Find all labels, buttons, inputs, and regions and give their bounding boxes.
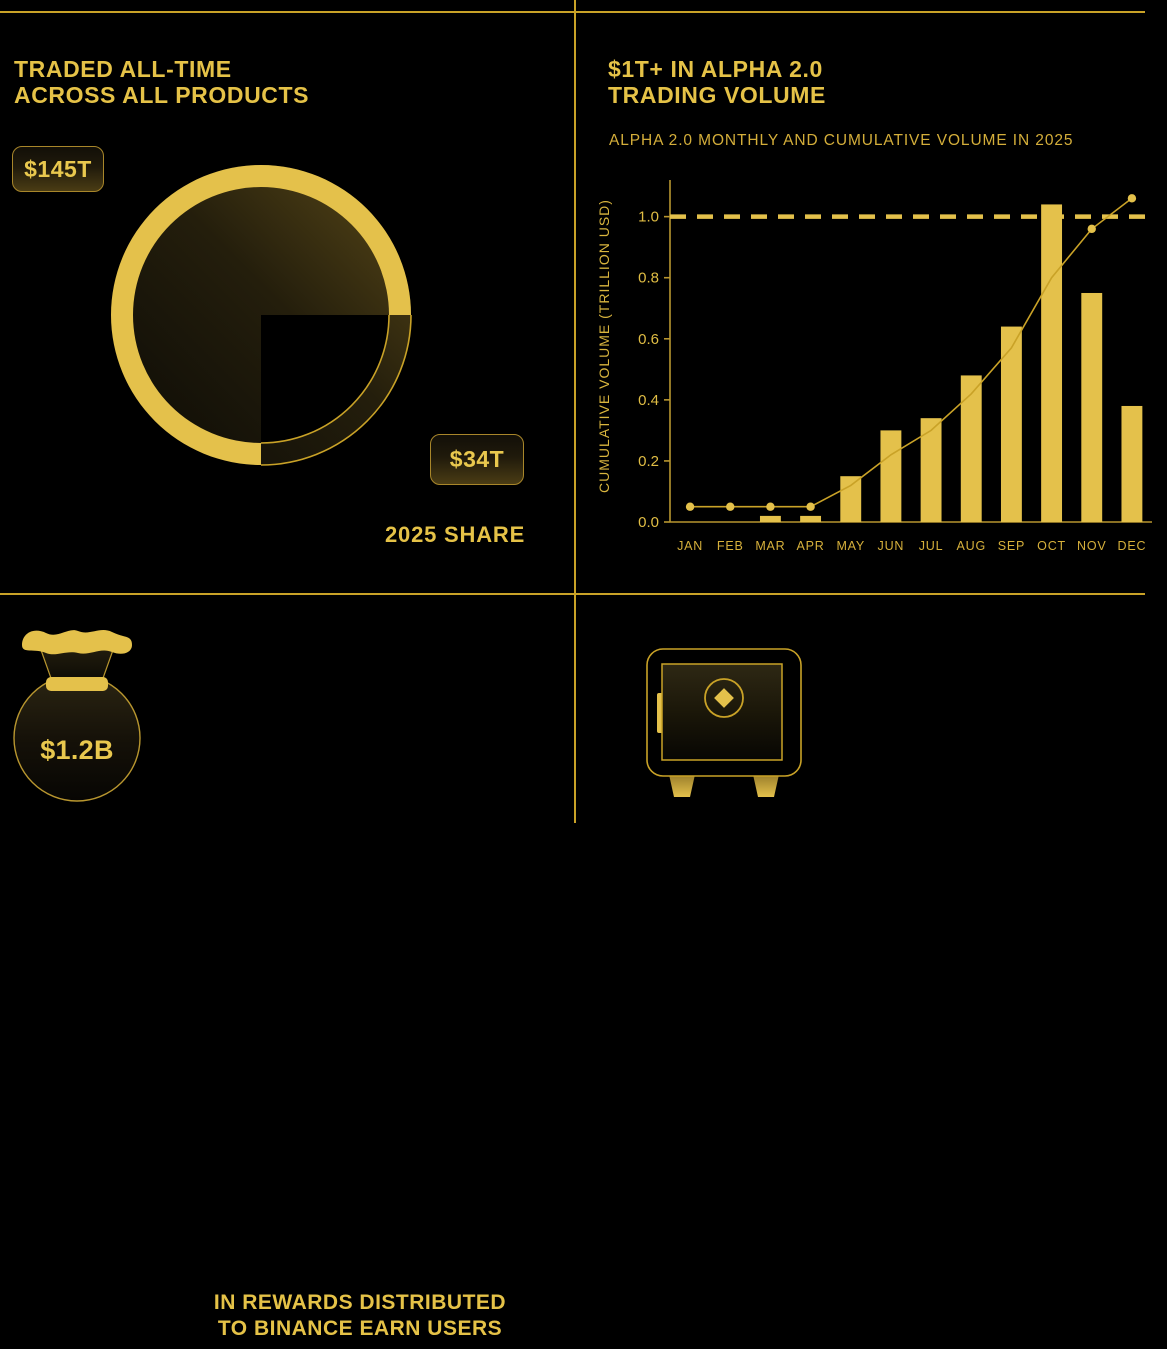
chart-line-marker: [1128, 194, 1136, 202]
chart-y-tick-label: 0.2: [638, 453, 659, 470]
badge-2025-share: $34T: [430, 434, 524, 485]
rewards-caption-line2: TO BINANCE EARN USERS: [218, 1317, 502, 1340]
panel-traded-all-time: TRADED ALL-TIME ACROSS ALL PRODUCTS: [0, 0, 574, 593]
chart-bar: [840, 476, 861, 522]
chart-x-tick-label: AUG: [957, 539, 987, 553]
money-bag-collar: [46, 677, 108, 691]
rewards-caption: IN REWARDS DISTRIBUTED TO BINANCE EARN U…: [190, 1290, 530, 1342]
chart-bar: [800, 516, 821, 522]
alpha-headline-line2: TRADING VOLUME: [608, 82, 826, 108]
badge-2025-share-label: $34T: [450, 446, 504, 473]
chart-line-marker: [686, 503, 694, 511]
badge-total-traded-label: $145T: [24, 156, 92, 183]
chart-x-tick-label: DEC: [1118, 539, 1147, 553]
money-bag-top: [22, 630, 132, 654]
traded-headline-line2: ACROSS ALL PRODUCTS: [14, 82, 309, 108]
chart-y-tick-label: 0.0: [638, 514, 659, 531]
chart-bar: [1121, 406, 1142, 522]
infographic-stage: TRADED ALL-TIME ACROSS ALL PRODUCTS: [0, 0, 1167, 823]
alpha-volume-chart: CUMULATIVE VOLUME (TRILLION USD) 0.00.20…: [598, 168, 1158, 568]
donut-wedge-cutout: [261, 315, 389, 443]
chart-x-tick-label: OCT: [1037, 539, 1066, 553]
share-caption: 2025 SHARE: [385, 522, 525, 548]
rewards-caption-line1: IN REWARDS DISTRIBUTED: [214, 1291, 506, 1314]
chart-x-tick-label: MAR: [755, 539, 785, 553]
chart-bar: [961, 375, 982, 522]
chart-x-tick-label: JUL: [919, 539, 944, 553]
chart-y-tick-label: 0.8: [638, 270, 659, 287]
alpha-headline: $1T+ IN ALPHA 2.0 TRADING VOLUME: [608, 56, 826, 108]
chart-bar: [921, 418, 942, 522]
chart-bar: [1081, 293, 1102, 522]
chart-x-tick-label: SEP: [998, 539, 1025, 553]
chart-bar: [880, 430, 901, 522]
chart-x-tick-label: JAN: [677, 539, 703, 553]
chart-bar: [760, 516, 781, 522]
chart-line-marker: [726, 503, 734, 511]
panel-user-balances: $162.8B IN USER BALANCES VERIFIED VIA PO…: [576, 595, 1167, 823]
chart-svg: 0.00.20.40.60.81.0JANFEBMARAPRMAYJUNJULA…: [598, 168, 1158, 568]
badge-total-traded: $145T: [12, 146, 104, 192]
alpha-subhead: ALPHA 2.0 MONTHLY AND CUMULATIVE VOLUME …: [609, 132, 1073, 150]
chart-cumulative-line: [690, 198, 1132, 506]
chart-line-marker: [806, 503, 814, 511]
vault-svg: [624, 637, 824, 807]
chart-y-tick-label: 0.4: [638, 392, 659, 409]
chart-y-axis-title: CUMULATIVE VOLUME (TRILLION USD): [596, 146, 612, 546]
chart-bar: [1041, 204, 1062, 522]
chart-x-tick-label: NOV: [1077, 539, 1107, 553]
chart-x-tick-label: MAY: [836, 539, 865, 553]
alpha-headline-line1: $1T+ IN ALPHA 2.0: [608, 56, 823, 82]
traded-headline: TRADED ALL-TIME ACROSS ALL PRODUCTS: [14, 56, 309, 108]
chart-line-marker: [766, 503, 774, 511]
money-bag-icon: $1.2B: [8, 623, 146, 808]
chart-line-marker: [1088, 225, 1096, 233]
panel-alpha-volume: $1T+ IN ALPHA 2.0 TRADING VOLUME ALPHA 2…: [576, 0, 1167, 593]
chart-y-tick-label: 0.6: [638, 331, 659, 348]
donut-svg: [86, 140, 436, 490]
panel-rewards: $1.2B IN REWARDS DISTRIBUTED TO BINANCE …: [0, 595, 574, 823]
chart-x-tick-label: APR: [797, 539, 825, 553]
chart-x-tick-label: JUN: [878, 539, 905, 553]
traded-headline-line1: TRADED ALL-TIME: [14, 56, 232, 82]
vault-icon: [624, 637, 824, 807]
rewards-amount: $1.2B: [8, 735, 146, 766]
chart-y-tick-label: 1.0: [638, 209, 659, 226]
chart-x-tick-label: FEB: [717, 539, 744, 553]
money-bag-svg: [8, 623, 146, 808]
donut-chart: [86, 140, 436, 490]
